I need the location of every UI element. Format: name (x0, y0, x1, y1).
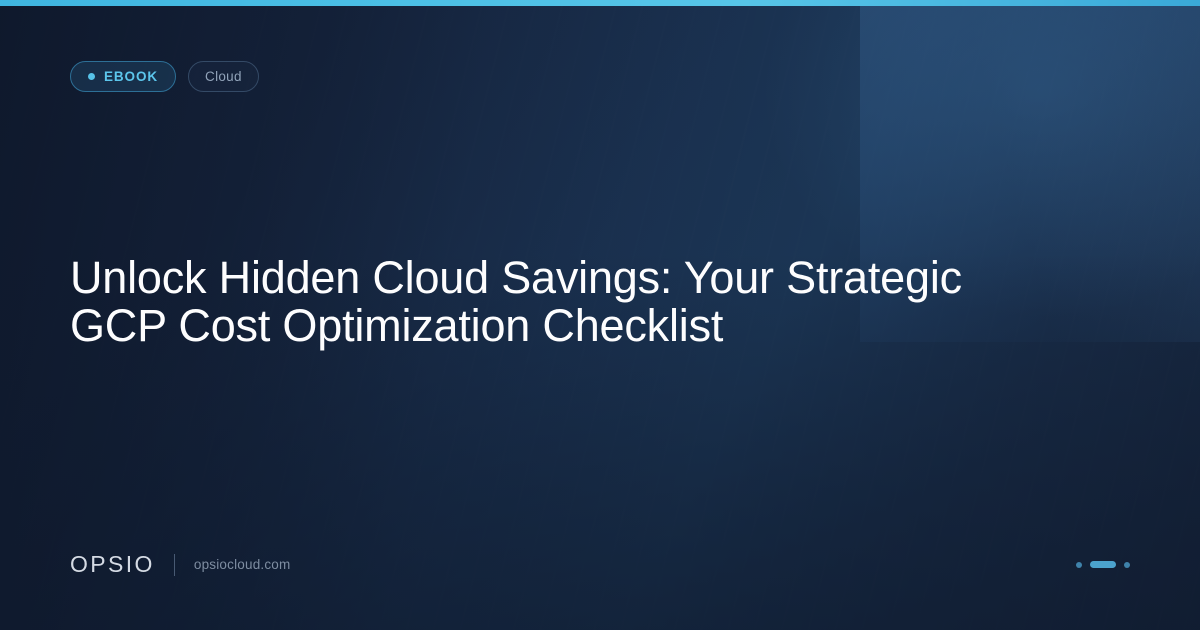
footer: OPSIO opsiocloud.com (70, 553, 1130, 576)
badge-ebook[interactable]: EBOOK (70, 61, 176, 92)
pagination-dot-3[interactable] (1124, 562, 1130, 568)
badge-cloud-label: Cloud (205, 70, 242, 84)
badge-group: EBOOK Cloud (70, 61, 259, 92)
dot-icon (88, 73, 95, 80)
brand-logo-wordmark: OPSIO (70, 553, 155, 576)
pagination-dot-1[interactable] (1076, 562, 1082, 568)
pagination-dot-2-active[interactable] (1090, 561, 1116, 568)
brand-divider (174, 554, 175, 576)
top-accent-bar (0, 0, 1200, 6)
page-title-line-2: GCP Cost Optimization Checklist (70, 302, 970, 350)
badge-ebook-label: EBOOK (104, 70, 158, 84)
brand-website-url: opsiocloud.com (194, 558, 291, 572)
slide-canvas: EBOOK Cloud Unlock Hidden Cloud Savings:… (0, 0, 1200, 630)
page-title: Unlock Hidden Cloud Savings: Your Strate… (70, 254, 970, 350)
badge-cloud[interactable]: Cloud (188, 61, 259, 92)
pagination-indicator[interactable] (1076, 561, 1130, 568)
brand-lockup: OPSIO opsiocloud.com (70, 553, 290, 576)
page-title-line-1: Unlock Hidden Cloud Savings: Your Strate… (70, 254, 970, 302)
